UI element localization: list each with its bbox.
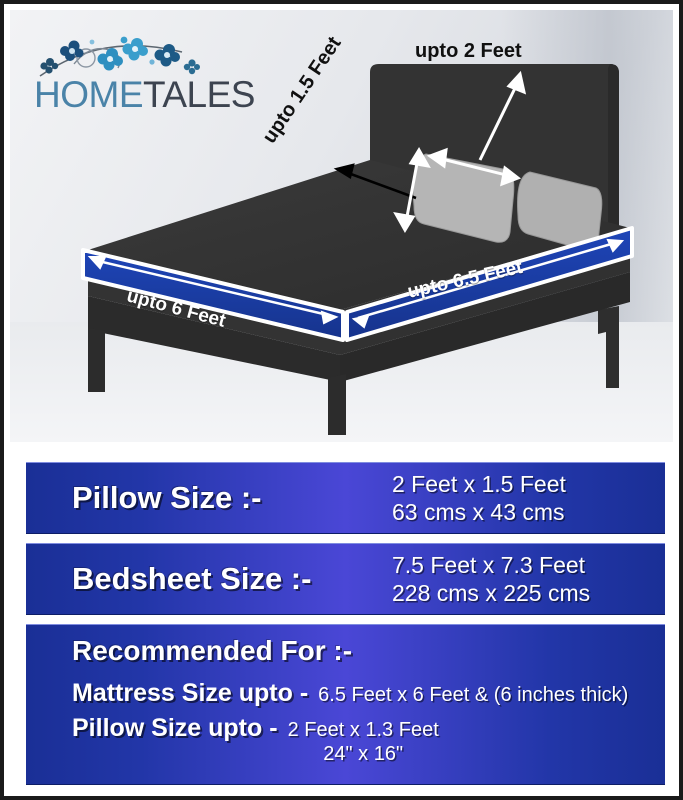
recommended-pillow-inches: 24" x 16"	[288, 743, 439, 766]
bedsheet-size-label: Bedsheet Size :-	[72, 561, 392, 597]
bed-leg-front-left	[88, 328, 105, 392]
label-pillow-width: upto 2 Feet	[415, 40, 522, 63]
brand-name-part2: TALES	[143, 74, 255, 115]
bed-leg-front-center	[328, 374, 346, 435]
bedsheet-size-values: 7.5 Feet x 7.3 Feet 228 cms x 225 cms	[392, 551, 590, 607]
row-bedsheet-size: Bedsheet Size :- 7.5 Feet x 7.3 Feet 228…	[26, 543, 665, 615]
bedsheet-size-cms: 228 cms x 225 cms	[392, 579, 590, 607]
bed-diagram-scene: HOMETALES upto 1.5 Feet upto 2 Feet upto…	[10, 10, 673, 442]
brand-wordmark: HOMETALES	[34, 76, 219, 113]
pillow-size-values: 2 Feet x 1.5 Feet 63 cms x 43 cms	[392, 470, 566, 526]
pillow-size-feet: 2 Feet x 1.5 Feet	[392, 470, 566, 498]
poster-inner: HOMETALES upto 1.5 Feet upto 2 Feet upto…	[10, 10, 673, 790]
bedsheet-size-feet: 7.5 Feet x 7.3 Feet	[392, 551, 590, 579]
bed-post-right	[598, 306, 619, 388]
recommended-mattress-value: 6.5 Feet x 6 Feet & (6 inches thick)	[318, 684, 628, 707]
recommended-pillow-line: Pillow Size upto - 2 Feet x 1.3 Feet 24"…	[72, 714, 665, 766]
pillow-size-cms: 63 cms x 43 cms	[392, 498, 566, 526]
recommended-mattress-key: Mattress Size upto -	[72, 679, 308, 708]
pillow-size-label: Pillow Size :-	[72, 480, 392, 516]
recommended-title: Recommended For :-	[72, 635, 665, 667]
recommended-pillow-values: 2 Feet x 1.3 Feet 24" x 16"	[288, 719, 439, 766]
row-pillow-size: Pillow Size :- 2 Feet x 1.5 Feet 63 cms …	[26, 462, 665, 534]
brand-logo: HOMETALES	[32, 32, 217, 127]
recommended-mattress-line: Mattress Size upto - 6.5 Feet x 6 Feet &…	[72, 679, 665, 708]
brand-name-part1: HOME	[34, 74, 143, 115]
recommended-pillow-key: Pillow Size upto -	[72, 714, 278, 743]
recommended-pillow-feet: 2 Feet x 1.3 Feet	[288, 719, 439, 741]
infographic-poster: HOMETALES upto 1.5 Feet upto 2 Feet upto…	[0, 0, 683, 800]
row-recommended-for: Recommended For :- Mattress Size upto - …	[26, 624, 665, 785]
